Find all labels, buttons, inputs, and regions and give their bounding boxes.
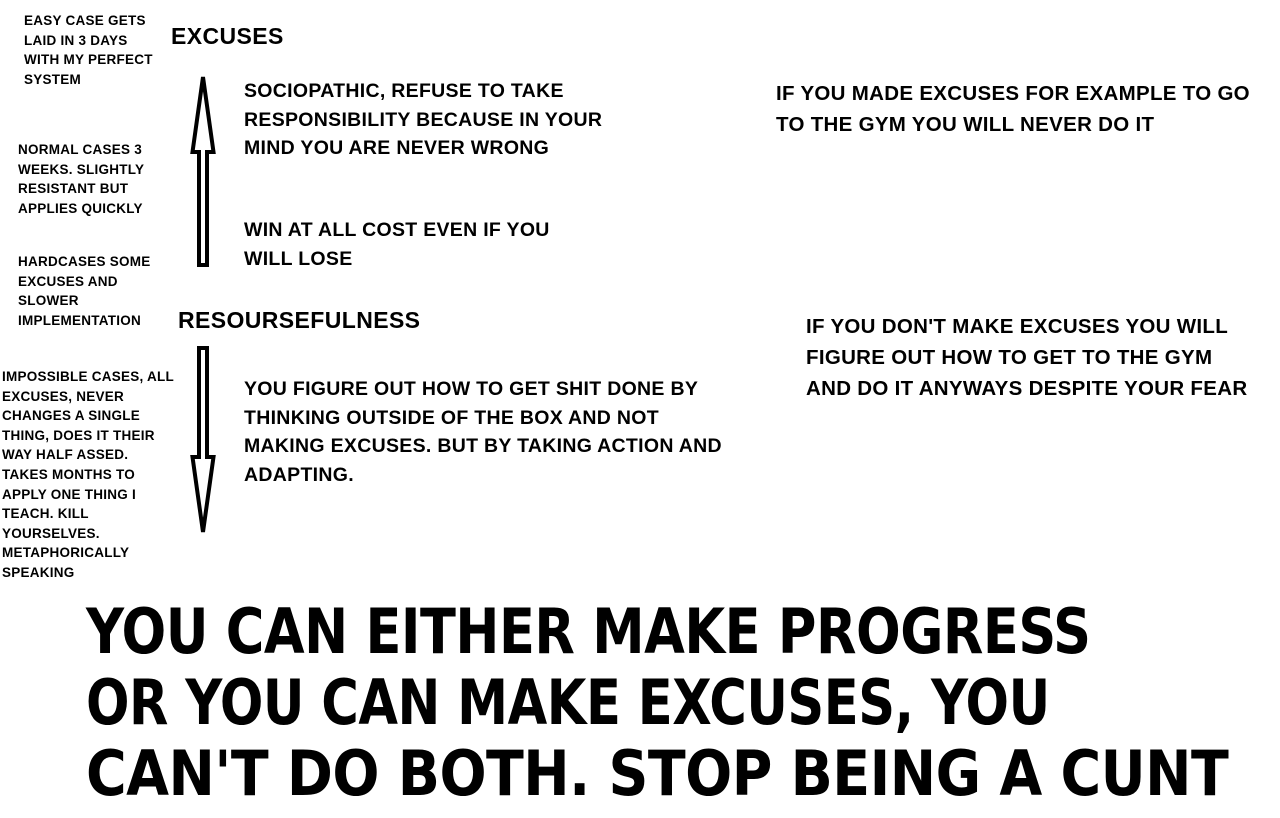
section-heading-excuses: EXCUSES xyxy=(171,24,284,48)
infographic-canvas: EASY CASE GETS LAID IN 3 DAYS WITH MY PE… xyxy=(0,0,1280,818)
left-note-impossible-cases: IMPOSSIBLE CASES, ALL EXCUSES, NEVER CHA… xyxy=(2,367,174,583)
bottom-headline: YOU CAN EITHER MAKE PROGRESS OR YOU CAN … xyxy=(86,596,1220,809)
arrow-down-icon xyxy=(186,345,220,535)
arrow-up-icon xyxy=(186,74,220,268)
left-note-hardcases: HARDCASES SOME EXCUSES AND SLOWER IMPLEM… xyxy=(18,252,164,330)
headline-line-2: OR YOU CAN MAKE EXCUSES, YOU xyxy=(86,667,1126,738)
excuses-example: IF YOU MADE EXCUSES FOR EXAMPLE TO GO TO… xyxy=(776,78,1256,140)
headline-line-1: YOU CAN EITHER MAKE PROGRESS xyxy=(86,596,1155,667)
resourcefulness-bullet-1: YOU FIGURE OUT HOW TO GET SHIT DONE BY T… xyxy=(244,375,744,489)
excuses-bullet-2: WIN AT ALL COST EVEN IF YOU WILL LOSE xyxy=(244,216,584,273)
left-note-normal-cases: NORMAL CASES 3 WEEKS. SLIGHTLY RESISTANT… xyxy=(18,140,170,218)
headline-line-3: CAN'T DO BOTH. STOP BEING A CUNT xyxy=(86,738,1212,809)
resourcefulness-example: IF YOU DON'T MAKE EXCUSES YOU WILL FIGUR… xyxy=(806,311,1258,404)
section-heading-resourcefulness: RESOURSEFULNESS xyxy=(178,308,420,332)
left-note-easy-case: EASY CASE GETS LAID IN 3 DAYS WITH MY PE… xyxy=(24,11,164,89)
excuses-bullet-1: SOCIOPATHIC, REFUSE TO TAKE RESPONSIBILI… xyxy=(244,77,604,163)
